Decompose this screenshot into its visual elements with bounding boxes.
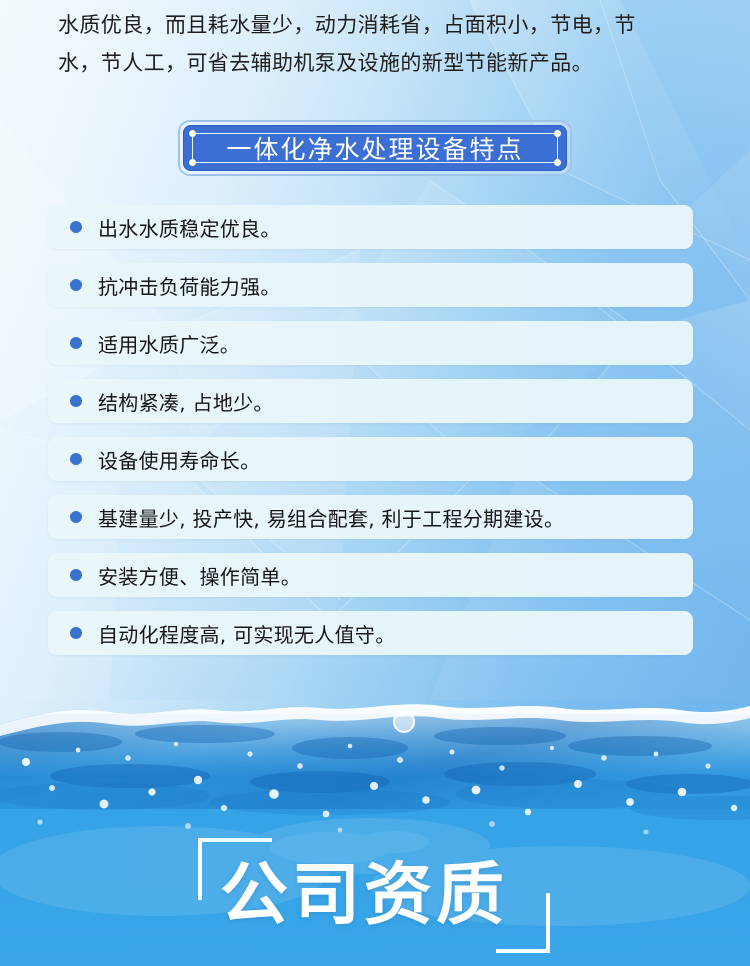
bullet-dot-icon [70,395,82,407]
banner-inner-fill: 一体化净水处理设备特点 [183,125,567,171]
feature-item: 安装方便、操作简单。 [48,553,693,597]
intro-line-2: 水，节人工，可省去辅助机泵及设施的新型节能新产品。 [58,44,698,82]
bullet-dot-icon [70,511,82,523]
feature-item: 自动化程度高, 可实现无人值守。 [48,611,693,655]
footer-heading-block: 公司资质 [198,838,558,953]
feature-list: 出水水质稳定优良。 抗冲击负荷能力强。 适用水质广泛。 结构紧凑, 占地少。 设… [48,205,693,669]
feature-label: 出水水质稳定优良。 [98,213,281,242]
feature-item: 适用水质广泛。 [48,321,693,365]
feature-label: 基建量少, 投产快, 易组合配套, 利于工程分期建设。 [98,503,564,532]
bullet-dot-icon [70,453,82,465]
bullet-dot-icon [70,279,82,291]
bullet-dot-icon [70,569,82,581]
feature-label: 抗冲击负荷能力强。 [98,271,281,300]
bullet-dot-icon [70,627,82,639]
section-title-banner: 一体化净水处理设备特点 [178,120,572,176]
promo-page: 水质优良，而且耗水量少，动力消耗省，占面积小，节电，节 水，节人工，可省去辅助机… [0,0,750,966]
feature-item: 结构紧凑, 占地少。 [48,379,693,423]
feature-item: 设备使用寿命长。 [48,437,693,481]
feature-item: 基建量少, 投产快, 易组合配套, 利于工程分期建设。 [48,495,693,539]
feature-label: 自动化程度高, 可实现无人值守。 [98,619,396,648]
section-title-text: 一体化净水处理设备特点 [183,125,567,171]
feature-label: 适用水质广泛。 [98,329,240,358]
feature-item: 抗冲击负荷能力强。 [48,263,693,307]
bullet-dot-icon [70,221,82,233]
footer-heading-text: 公司资质 [220,846,508,946]
feature-label: 结构紧凑, 占地少。 [98,387,274,416]
feature-label: 设备使用寿命长。 [98,445,260,474]
intro-paragraph: 水质优良，而且耗水量少，动力消耗省，占面积小，节电，节 水，节人工，可省去辅助机… [58,6,698,82]
feature-label: 安装方便、操作简单。 [98,561,301,590]
intro-line-1: 水质优良，而且耗水量少，动力消耗省，占面积小，节电，节 [58,6,698,44]
feature-item: 出水水质稳定优良。 [48,205,693,249]
bullet-dot-icon [70,337,82,349]
